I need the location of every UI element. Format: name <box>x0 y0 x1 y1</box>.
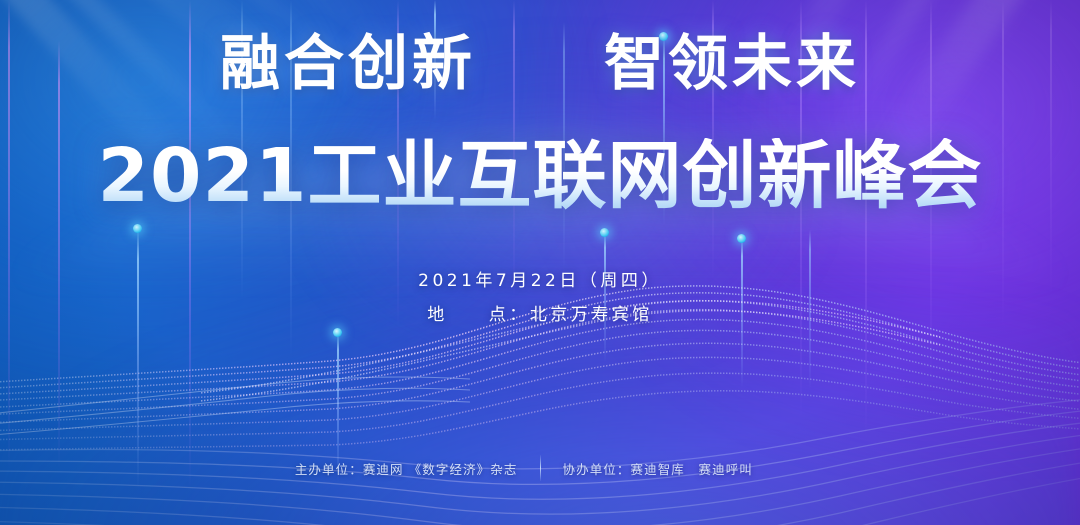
event-location: 地 点：北京万寿宾馆 <box>0 300 1080 325</box>
conference-poster: 融合创新 智领未来 2021工业互联网创新峰会 2021年7月22日（周四） 地… <box>0 0 1080 525</box>
organizer-text: 主办单位：赛迪网 《数字经济》杂志 <box>218 459 540 478</box>
co-organizer-text: 协办单位：赛迪智库 赛迪呼叫 <box>541 459 863 478</box>
beam-dot-icon <box>737 234 746 243</box>
poster-tagline: 融合创新 智领未来 <box>0 34 1080 94</box>
beam-dot-icon <box>600 228 609 237</box>
beam-dot-icon <box>133 224 142 233</box>
poster-footer: 主办单位：赛迪网 《数字经济》杂志 协办单位：赛迪智库 赛迪呼叫 <box>0 455 1080 481</box>
poster-title: 2021工业互联网创新峰会 <box>0 138 1080 216</box>
event-date: 2021年7月22日（周四） <box>0 266 1080 291</box>
